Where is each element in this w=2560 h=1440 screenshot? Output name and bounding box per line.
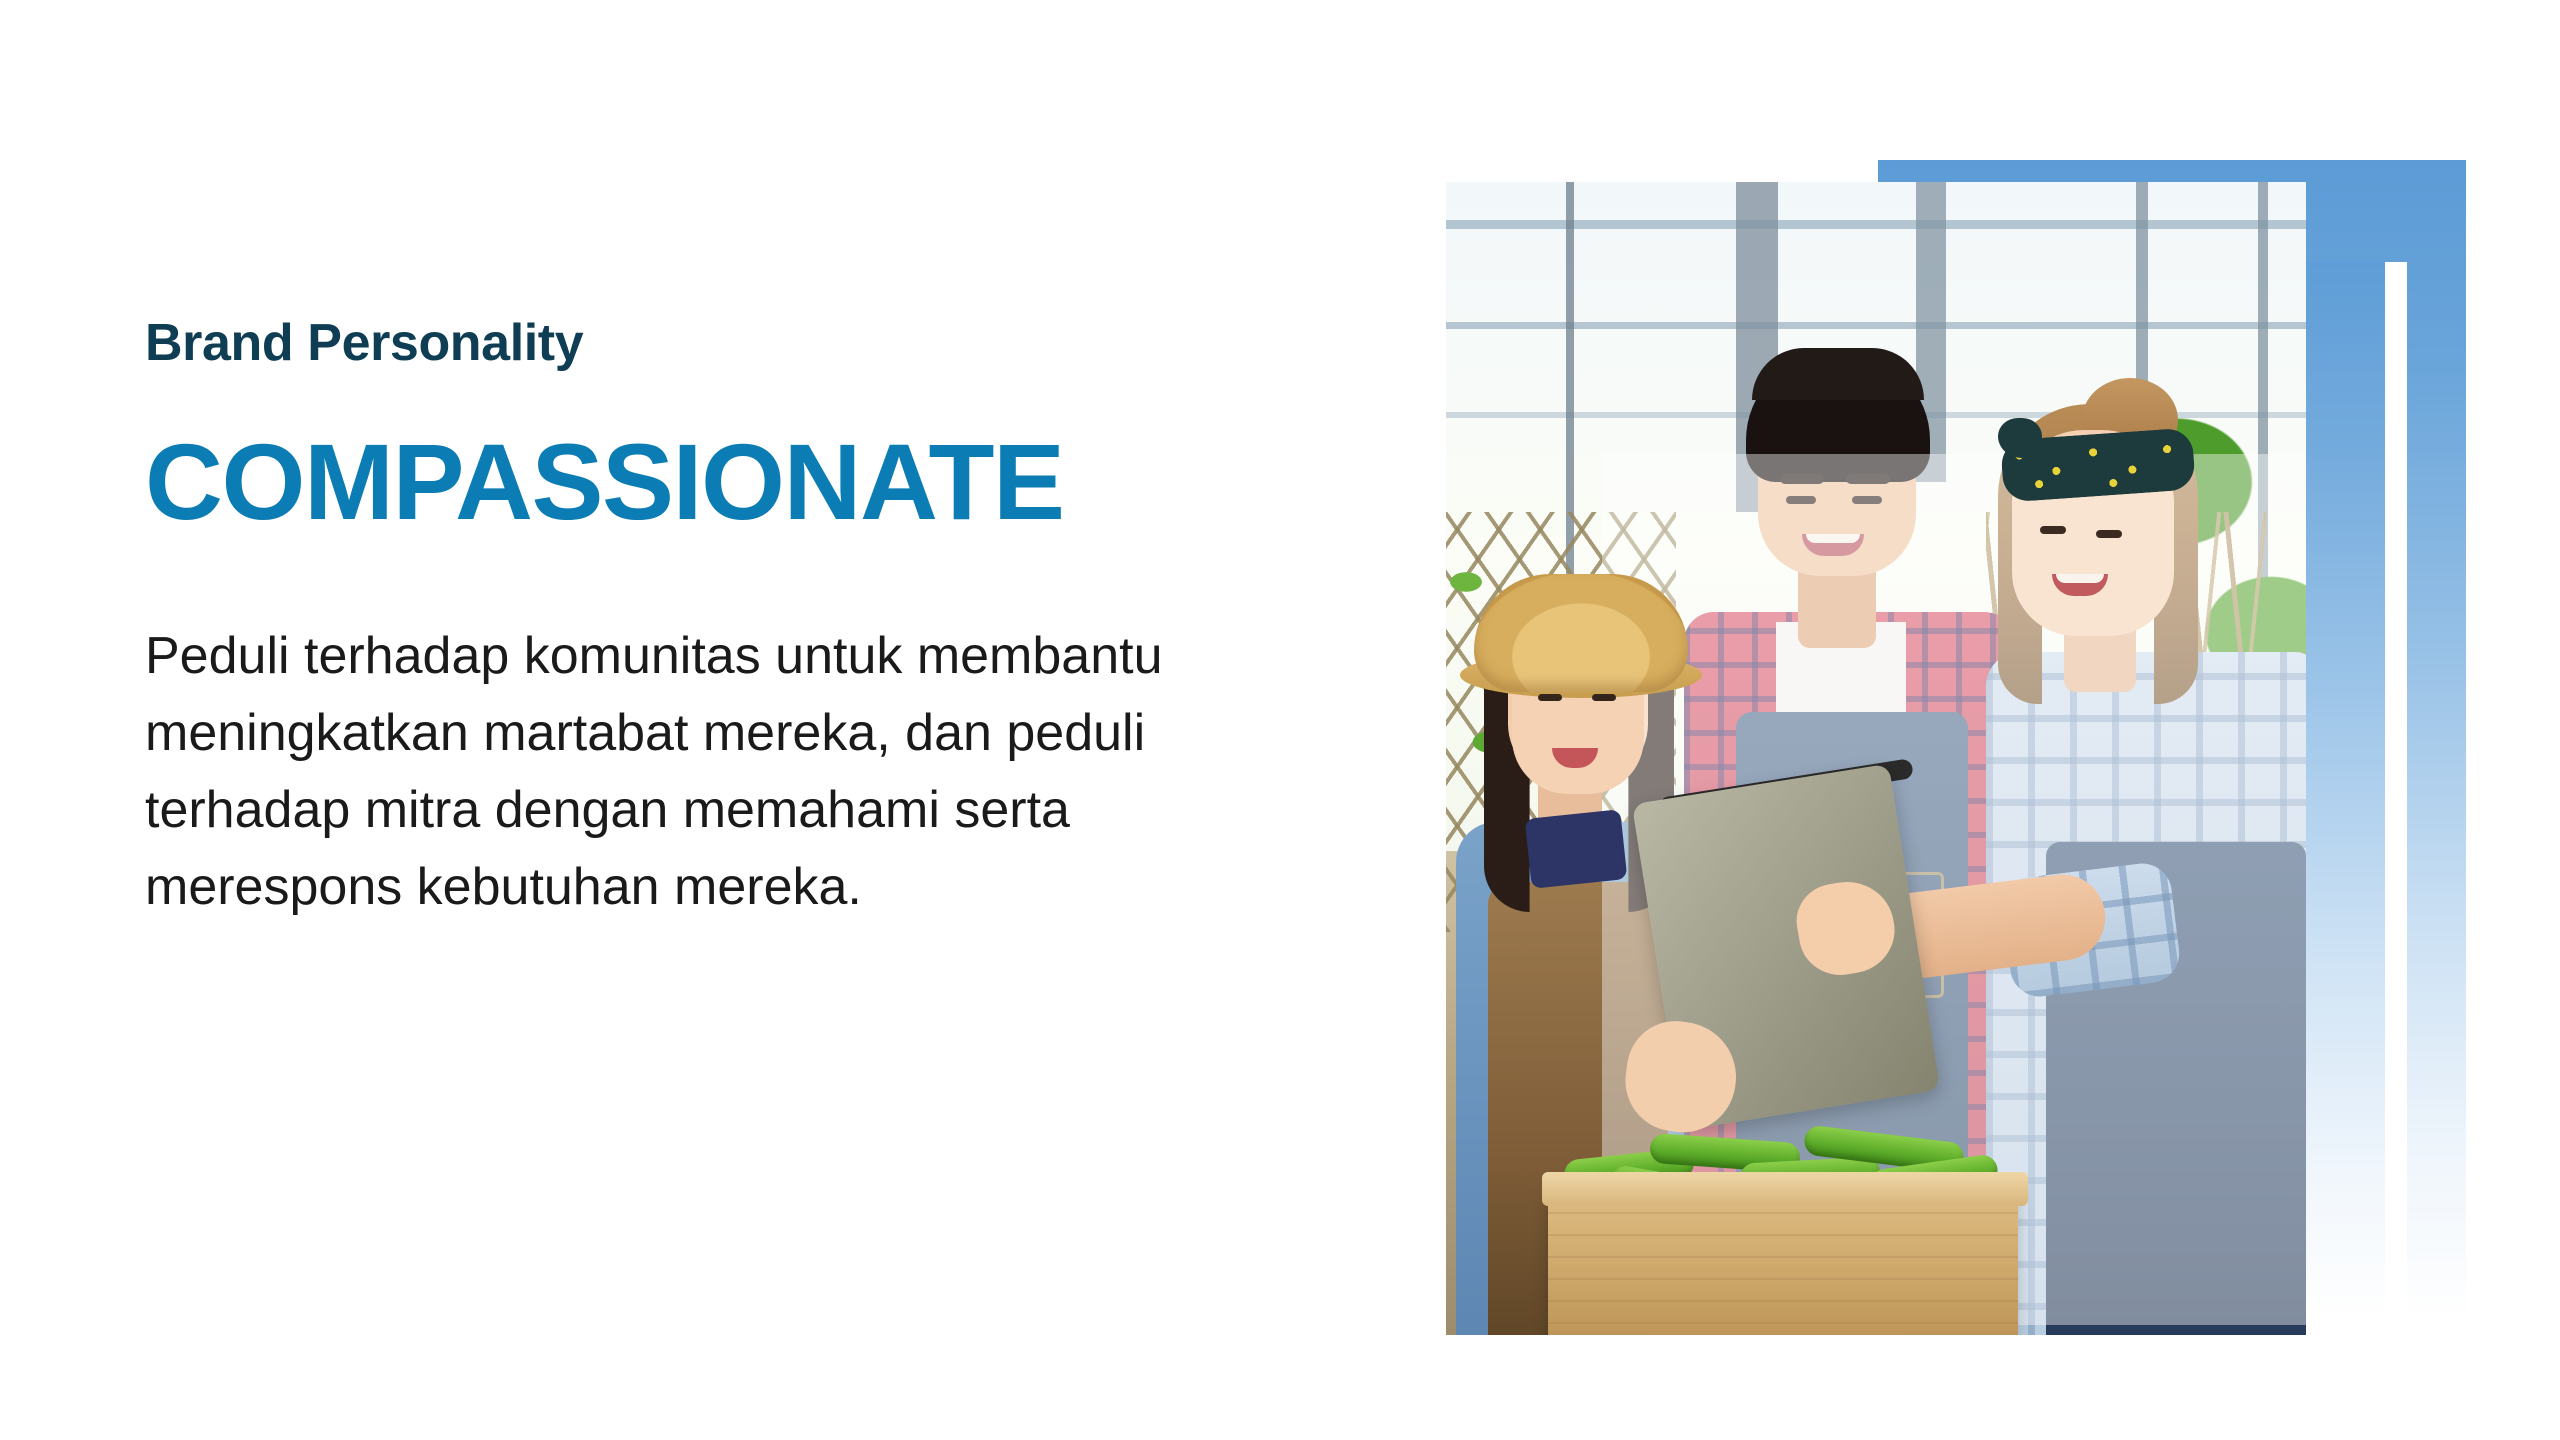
text-column: Brand Personality COMPASSIONATE Peduli t… — [145, 315, 1345, 926]
eye — [2040, 526, 2066, 534]
slide-canvas: Brand Personality COMPASSIONATE Peduli t… — [0, 0, 2560, 1440]
visual-group — [1400, 0, 2560, 1440]
eyebrow — [1780, 474, 1824, 484]
greenhouse-beam — [1446, 220, 2306, 229]
team-photo — [1446, 182, 2306, 1335]
crate-rim — [1542, 1172, 2028, 1206]
eye — [1852, 496, 1882, 504]
bandana-knot — [1998, 418, 2042, 458]
page-title: COMPASSIONATE — [145, 428, 1345, 536]
eye — [1786, 496, 1816, 504]
neck-scarf — [1525, 809, 1628, 889]
eye — [2096, 530, 2122, 538]
straw-hat — [1474, 574, 1688, 692]
photo-scene — [1446, 182, 2306, 1335]
frame-separator — [2385, 262, 2407, 1320]
teeth — [1806, 534, 1860, 543]
teeth — [2056, 574, 2104, 583]
eye — [1592, 694, 1616, 701]
hair-tuft — [1752, 348, 1924, 400]
body-paragraph: Peduli terhadap komunitas untuk membantu… — [145, 618, 1325, 926]
eye — [1538, 694, 1562, 701]
eyebrow-label: Brand Personality — [145, 315, 1345, 372]
eyebrow — [1846, 474, 1890, 484]
